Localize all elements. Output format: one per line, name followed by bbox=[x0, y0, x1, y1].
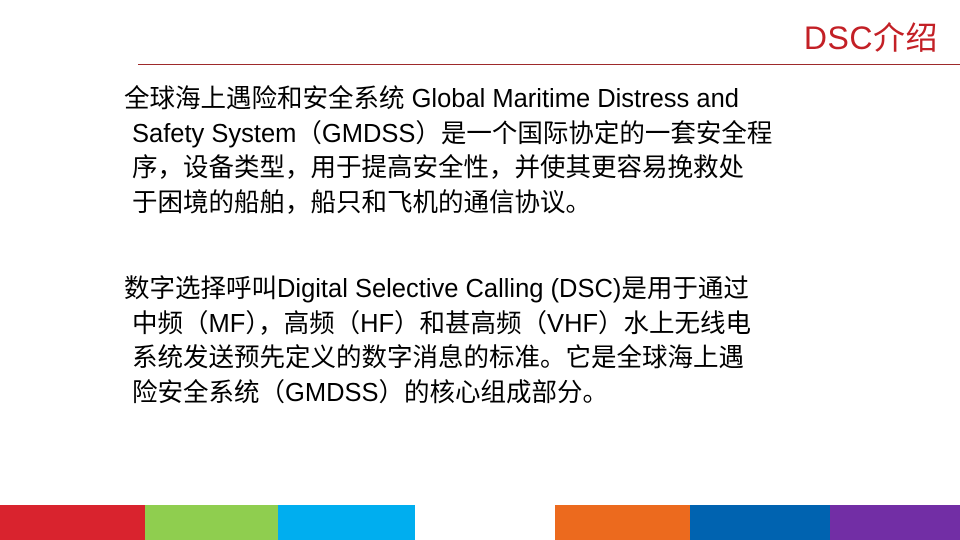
paragraph-dsc: 数字选择呼叫Digital Selective Calling (DSC)是用于… bbox=[124, 272, 936, 410]
paragraph-gmdss: 全球海上遇险和安全系统 Global Maritime Distress and… bbox=[124, 82, 936, 220]
footer-bar-purple bbox=[830, 505, 960, 540]
paragraph-line: 序，设备类型，用于提高安全性，并使其更容易挽救处 bbox=[124, 151, 936, 186]
footer-bar-red bbox=[0, 505, 145, 540]
title-area: DSC介绍 bbox=[138, 16, 950, 66]
paragraph-line: 于困境的船舶，船只和飞机的通信协议。 bbox=[124, 186, 936, 221]
paragraph-line: 险安全系统（GMDSS）的核心组成部分。 bbox=[124, 376, 936, 411]
footer-color-bars bbox=[0, 505, 960, 540]
paragraph-line: Safety System（GMDSS）是一个国际协定的一套安全程 bbox=[124, 117, 936, 152]
paragraph-line: 系统发送预先定义的数字消息的标准。它是全球海上遇 bbox=[124, 341, 936, 376]
footer-bar-blue bbox=[690, 505, 830, 540]
paragraph-spacer bbox=[124, 220, 936, 272]
body-content: 全球海上遇险和安全系统 Global Maritime Distress and… bbox=[124, 82, 936, 462]
slide-canvas: DSC介绍 全球海上遇险和安全系统 Global Maritime Distre… bbox=[0, 0, 960, 540]
footer-bar-cyan bbox=[278, 505, 415, 540]
title-divider bbox=[138, 64, 960, 65]
footer-bar-green bbox=[145, 505, 278, 540]
paragraph-line: 全球海上遇险和安全系统 Global Maritime Distress and bbox=[124, 82, 936, 117]
paragraph-line: 数字选择呼叫Digital Selective Calling (DSC)是用于… bbox=[124, 272, 936, 307]
paragraph-line: 中频（MF），高频（HF）和甚高频（VHF）水上无线电 bbox=[124, 307, 936, 342]
page-title: DSC介绍 bbox=[804, 16, 938, 60]
footer-bar-orange bbox=[555, 505, 690, 540]
